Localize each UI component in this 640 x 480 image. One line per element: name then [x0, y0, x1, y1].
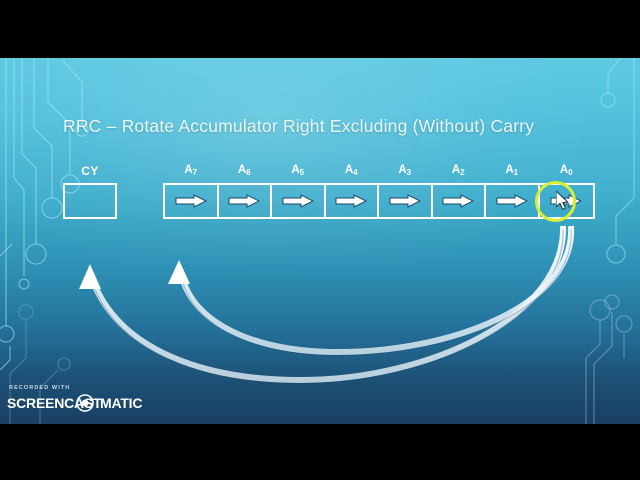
- watermark-recorded-with-label: RECORDED WITH: [9, 385, 70, 391]
- letterbox-bottom: [0, 424, 640, 480]
- feedback-arrows-group: [0, 58, 640, 424]
- bit-a7-label: A7: [165, 164, 217, 176]
- screencast-o-matic-watermark: RECORDED WITH SCREENCAST MATIC: [0, 383, 145, 424]
- carry-flag-group: CY: [63, 183, 117, 219]
- bit-a2[interactable]: A2: [433, 185, 487, 217]
- bit-a4[interactable]: A4: [326, 185, 380, 217]
- rrc-diagram: CY A7 A6 A5: [0, 58, 640, 424]
- bit-a4-label: A4: [326, 164, 378, 176]
- bit-a7[interactable]: A7: [165, 185, 219, 217]
- shift-right-arrow-icon: [389, 194, 421, 208]
- letterbox-top: [0, 0, 640, 58]
- shift-right-arrow-icon: [228, 194, 260, 208]
- camera-dot-icon: [76, 394, 94, 412]
- shift-right-arrow-icon: [442, 194, 474, 208]
- a0-to-a7-arrow: [168, 226, 571, 355]
- carry-flag-box: [63, 183, 117, 219]
- bit-a1[interactable]: A1: [486, 185, 540, 217]
- bit-a3[interactable]: A3: [379, 185, 433, 217]
- bit-a1-label: A1: [486, 164, 538, 176]
- bit-a6[interactable]: A6: [219, 185, 273, 217]
- shift-right-arrow-icon: [335, 194, 367, 208]
- bit-a3-label: A3: [379, 164, 431, 176]
- bit-a6-label: A6: [219, 164, 271, 176]
- watermark-brand-second: MATIC: [100, 395, 142, 411]
- carry-flag-label: CY: [63, 164, 117, 178]
- shift-right-arrow-icon: [282, 194, 314, 208]
- bit-a5-label: A5: [272, 164, 324, 176]
- bit-a5[interactable]: A5: [272, 185, 326, 217]
- bit-a2-label: A2: [433, 164, 485, 176]
- a0-to-cy-arrow: [79, 226, 563, 383]
- mouse-pointer-icon: [556, 191, 570, 211]
- accumulator-register: A7 A6 A5: [163, 183, 595, 219]
- shift-right-arrow-icon: [496, 194, 528, 208]
- shift-right-arrow-icon: [175, 194, 207, 208]
- presentation-slide: RRC – Rotate Accumulator Right Excluding…: [0, 58, 640, 424]
- video-frame: RRC – Rotate Accumulator Right Excluding…: [0, 0, 640, 480]
- bit-a0-label: A0: [540, 164, 593, 176]
